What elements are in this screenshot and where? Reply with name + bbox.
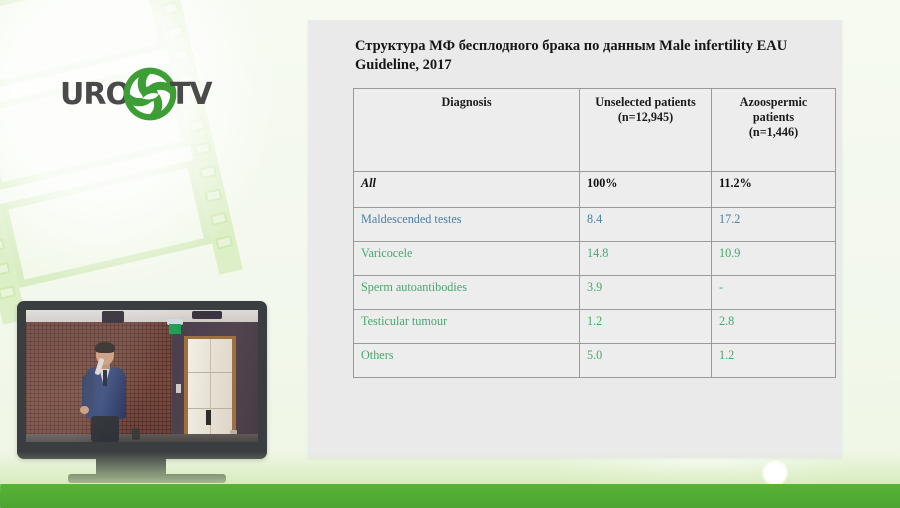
column-header-diagnosis: Diagnosis: [354, 89, 580, 172]
table-header-row: Diagnosis Unselected patients (n=12,945)…: [354, 89, 836, 172]
cell-diagnosis: Maldescended testes: [354, 208, 580, 242]
background-glow-dot: [762, 460, 788, 486]
cell-azoospermic: -: [712, 276, 836, 310]
table-row: Sperm autoantibodies 3.9 -: [354, 276, 836, 310]
slide-title: Структура МФ бесплодного брака по данным…: [355, 37, 827, 75]
cell-unselected: 100%: [580, 172, 712, 208]
cell-unselected: 1.2: [580, 310, 712, 344]
infertility-structure-table: Diagnosis Unselected patients (n=12,945)…: [353, 88, 836, 378]
bottom-bar-rays: [0, 484, 900, 508]
cell-diagnosis: Others: [354, 344, 580, 378]
slide-viewer: URO TV: [0, 0, 900, 508]
column-header-unselected-patients: Unselected patients (n=12,945): [580, 89, 712, 172]
cell-unselected: 8.4: [580, 208, 712, 242]
column-header-azoospermic-patients: Azoospermic patients (n=1,446): [712, 89, 836, 172]
cell-unselected: 5.0: [580, 344, 712, 378]
presentation-slide: Структура МФ бесплодного брака по данным…: [308, 20, 842, 458]
bottom-green-bar: [0, 484, 900, 508]
cell-azoospermic: 17.2: [712, 208, 836, 242]
brand-name-left: URO: [60, 77, 130, 112]
table-row-all: All 100% 11.2%: [354, 172, 836, 208]
cell-unselected: 3.9: [580, 276, 712, 310]
table-row: Varicocele 14.8 10.9: [354, 242, 836, 276]
brand-name-right: TV: [170, 77, 212, 112]
cell-diagnosis: Testicular tumour: [354, 310, 580, 344]
cell-diagnosis: Sperm autoantibodies: [354, 276, 580, 310]
cell-azoospermic: 10.9: [712, 242, 836, 276]
cell-azoospermic: 2.8: [712, 310, 836, 344]
cell-diagnosis: All: [354, 172, 580, 208]
brand-logo: URO TV: [60, 66, 212, 122]
lecture-video-monitor[interactable]: [17, 301, 267, 459]
cell-unselected: 14.8: [580, 242, 712, 276]
cell-azoospermic: 1.2: [712, 344, 836, 378]
table-row: Testicular tumour 1.2 2.8: [354, 310, 836, 344]
watermark-glow: [0, 0, 280, 290]
table-row: Others 5.0 1.2: [354, 344, 836, 378]
table-row: Maldescended testes 8.4 17.2: [354, 208, 836, 242]
video-screen[interactable]: [26, 310, 258, 442]
screen-glare: [26, 310, 258, 442]
cell-diagnosis: Varicocele: [354, 242, 580, 276]
cell-azoospermic: 11.2%: [712, 172, 836, 208]
